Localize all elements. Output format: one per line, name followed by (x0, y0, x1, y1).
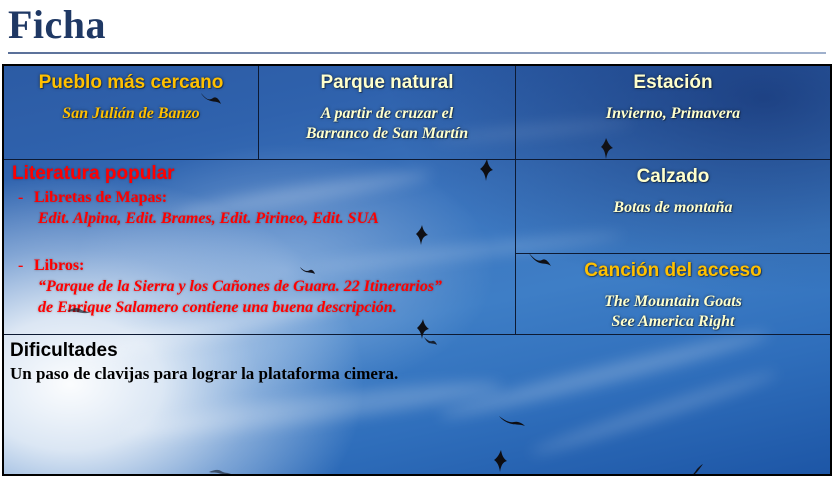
cell-cancion-header: Canción del acceso (516, 259, 830, 282)
cell-cancion-value-line1: The Mountain Goats (516, 292, 830, 312)
cell-estacion: Estación Invierno, Primavera (516, 66, 830, 160)
cell-calzado-header: Calzado (516, 165, 830, 188)
page-title-text: Ficha (8, 2, 826, 48)
cell-parque-value-line1: A partir de cruzar el (259, 104, 515, 124)
literatura-item-detail-line2: de Enrique Salamero contiene una buena d… (38, 297, 515, 318)
literatura-item-label: Libros: (34, 255, 515, 276)
cell-calzado-value: Botas de montaña (516, 198, 830, 218)
list-item: - Libros: “Parque de la Sierra y los Cañ… (34, 255, 515, 318)
literatura-item-detail: Edit. Alpina, Edit. Brames, Edit. Pirine… (38, 208, 515, 229)
cell-estacion-value: Invierno, Primavera (516, 104, 830, 124)
title-divider (8, 52, 826, 54)
cell-dificultades-header: Dificultades (10, 339, 830, 362)
cell-parque-value-line2: Barranco de San Martín (259, 124, 515, 144)
cell-pueblo-mas-cercano: Pueblo más cercano San Julián de Banzo (4, 66, 259, 160)
literatura-item-detail-line1: “Parque de la Sierra y los Cañones de Gu… (38, 276, 515, 297)
cell-literatura-popular: Literatura popular - Libretas de Mapas: … (4, 160, 516, 335)
cell-cancion-value: The Mountain Goats See America Right (516, 292, 830, 332)
cell-dificultades: Dificultades Un paso de clavijas para lo… (4, 335, 830, 474)
cell-literatura-header: Literatura popular (12, 163, 515, 185)
cell-pueblo-header: Pueblo más cercano (4, 71, 258, 94)
slide-root: Ficha Pueblo más cercano San Julián de B… (0, 0, 834, 478)
list-item: - Libretas de Mapas: Edit. Alpina, Edit.… (34, 187, 515, 229)
cell-parque-header: Parque natural (259, 71, 515, 94)
bullet-dash: - (18, 255, 23, 276)
literatura-item-label: Libretas de Mapas: (34, 187, 515, 208)
bullet-dash: - (18, 187, 23, 208)
cell-cancion-value-line2: See America Right (516, 312, 830, 332)
cell-calzado: Calzado Botas de montaña (516, 160, 830, 254)
cell-estacion-header: Estación (516, 71, 830, 94)
cell-pueblo-value: San Julián de Banzo (4, 104, 258, 124)
page-title: Ficha (8, 2, 826, 54)
ficha-table: Pueblo más cercano San Julián de Banzo P… (2, 64, 832, 476)
cell-cancion-del-acceso: Canción del acceso The Mountain Goats Se… (516, 254, 830, 335)
literatura-list: - Libretas de Mapas: Edit. Alpina, Edit.… (4, 187, 515, 318)
cell-parque-natural: Parque natural A partir de cruzar el Bar… (259, 66, 516, 160)
cell-parque-value: A partir de cruzar el Barranco de San Ma… (259, 104, 515, 144)
cell-dificultades-value: Un paso de clavijas para lograr la plata… (10, 363, 830, 385)
